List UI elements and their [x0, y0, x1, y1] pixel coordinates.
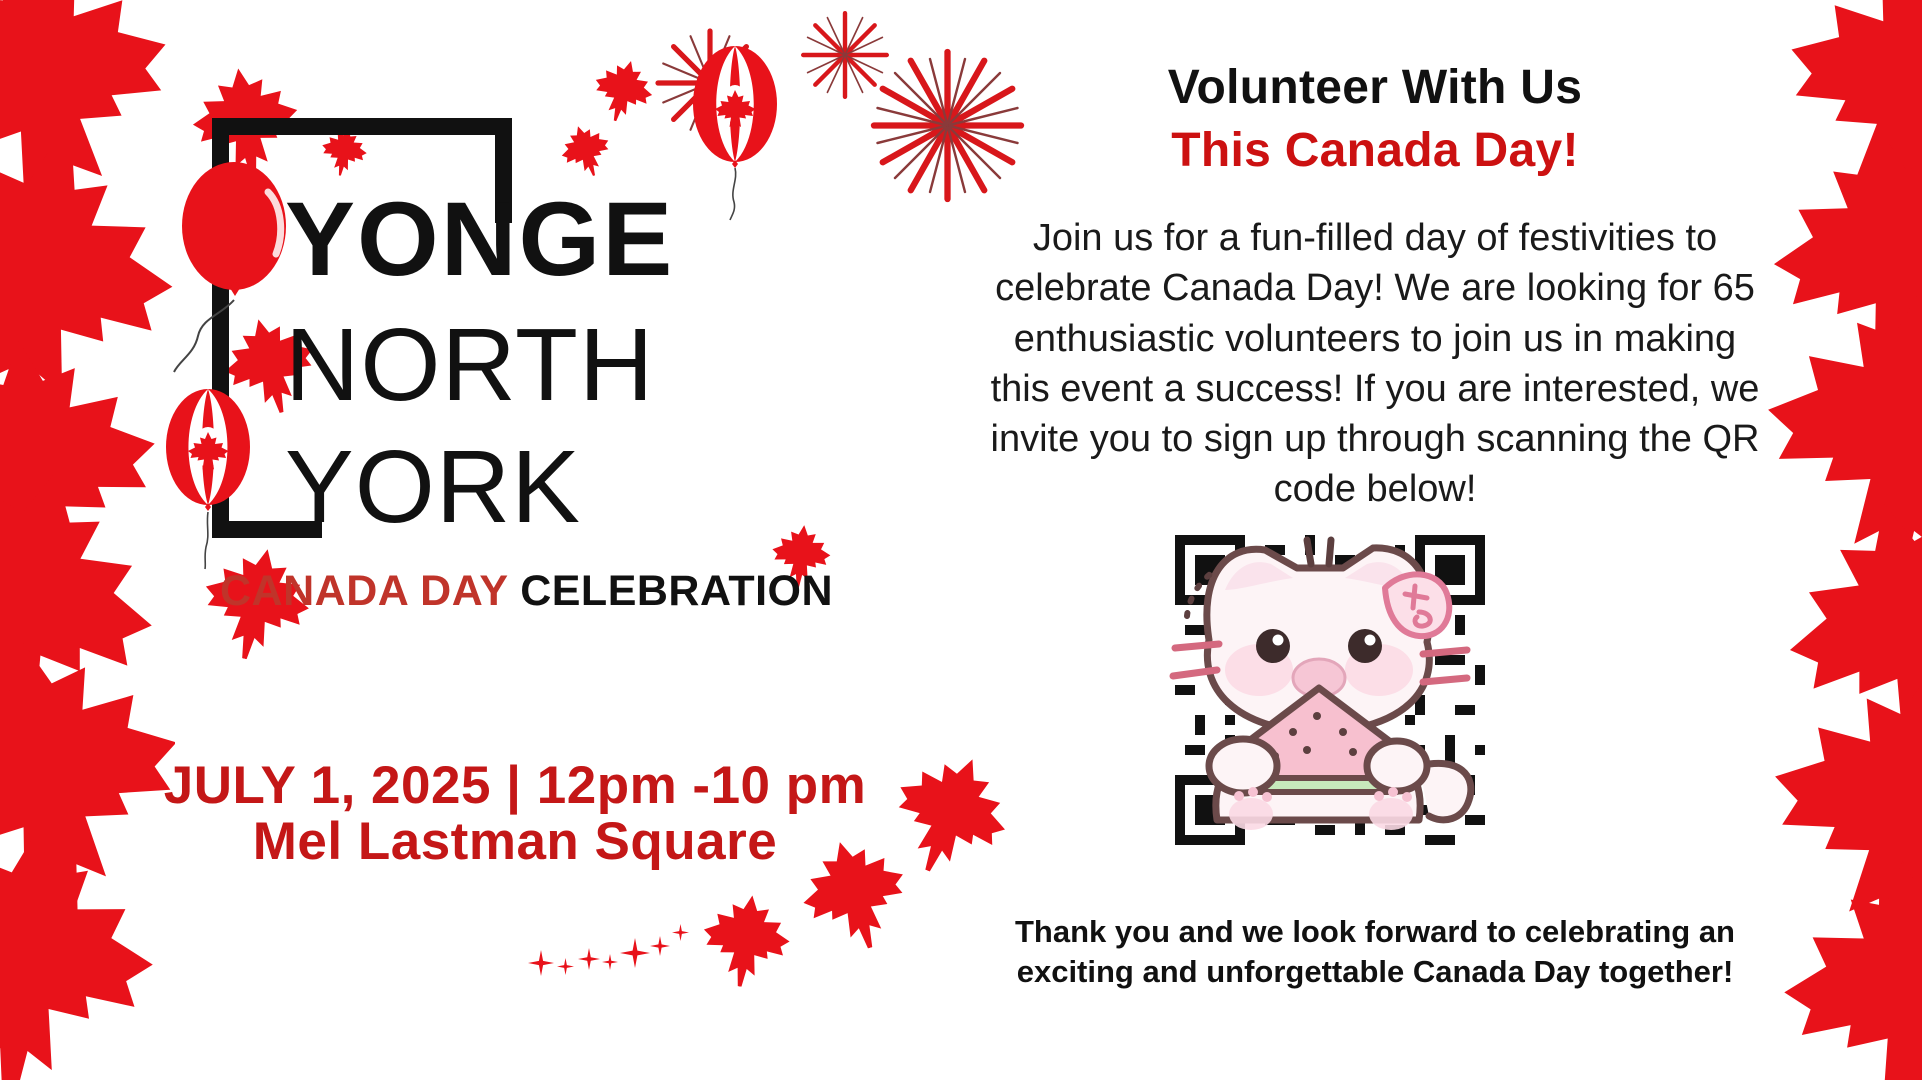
maple-leaf-icon	[0, 327, 175, 618]
sparkle-star-icon	[620, 938, 650, 968]
maple-leaf-icon	[0, 121, 175, 449]
volunteer-callout: Volunteer With Us This Canada Day! Join …	[980, 60, 1770, 514]
maple-leaf-icon	[1747, 649, 1922, 981]
kawaii-cat-sticker-icon	[1147, 520, 1487, 840]
event-details: JULY 1, 2025 | 12pm -10 pm Mel Lastman S…	[150, 758, 880, 870]
maple-leaf-icon	[1750, 113, 1922, 412]
maple-leaf-icon	[0, 816, 174, 1080]
sparkle-star-icon	[672, 924, 689, 941]
poster-canvas: YONGE NORTH YORK CANADA DAY CELEBRATION …	[0, 0, 1922, 1080]
thank-you-message: Thank you and we look forward to celebra…	[990, 912, 1760, 993]
logo-subtitle-celebration: CELEBRATION	[520, 567, 833, 615]
maple-leaf-icon	[0, 617, 175, 947]
maple-leaf-icon	[0, 440, 175, 779]
sparkle-star-icon	[650, 936, 670, 956]
sparkle-star-icon	[602, 954, 618, 970]
logo-subtitle: CANADA DAY CELEBRATION	[220, 567, 833, 616]
yonge-north-york-logo: YONGE NORTH YORK CANADA DAY CELEBRATION	[150, 55, 870, 695]
sparkle-star-icon	[578, 948, 600, 970]
maple-leaf-icon	[0, 0, 175, 251]
left-maple-leaf-border	[0, 0, 175, 1080]
sparkle-star-icon	[528, 950, 554, 976]
logo-word-north: NORTH	[285, 313, 654, 416]
logo-word-york: YORK	[285, 435, 581, 538]
maple-leaf-icon	[1751, 0, 1922, 256]
canada-flag-balloon-icon	[158, 385, 258, 570]
logo-word-yonge: YONGE	[285, 187, 674, 292]
event-venue-line: Mel Lastman Square	[150, 814, 880, 870]
qr-signup-block[interactable]	[1165, 525, 1495, 855]
right-maple-leaf-border	[1747, 0, 1922, 1080]
logo-subtitle-canada-day: CANADA DAY	[220, 567, 508, 615]
logo-bracket-top	[212, 118, 512, 135]
body-paragraph: Join us for a fun-filled day of festivit…	[980, 213, 1770, 514]
headline-secondary: This Canada Day!	[980, 123, 1770, 180]
maple-leaf-icon	[1753, 471, 1922, 798]
maple-leaf-icon	[1766, 849, 1922, 1080]
balloon-icon	[172, 158, 302, 408]
headline-primary: Volunteer With Us	[980, 60, 1770, 117]
sparkle-star-icon	[557, 958, 574, 975]
maple-leaf-icon	[1747, 277, 1922, 602]
event-date-line: JULY 1, 2025 | 12pm -10 pm	[150, 758, 880, 814]
maple-leaf-icon	[872, 737, 1028, 893]
maple-leaf-icon	[694, 889, 798, 993]
